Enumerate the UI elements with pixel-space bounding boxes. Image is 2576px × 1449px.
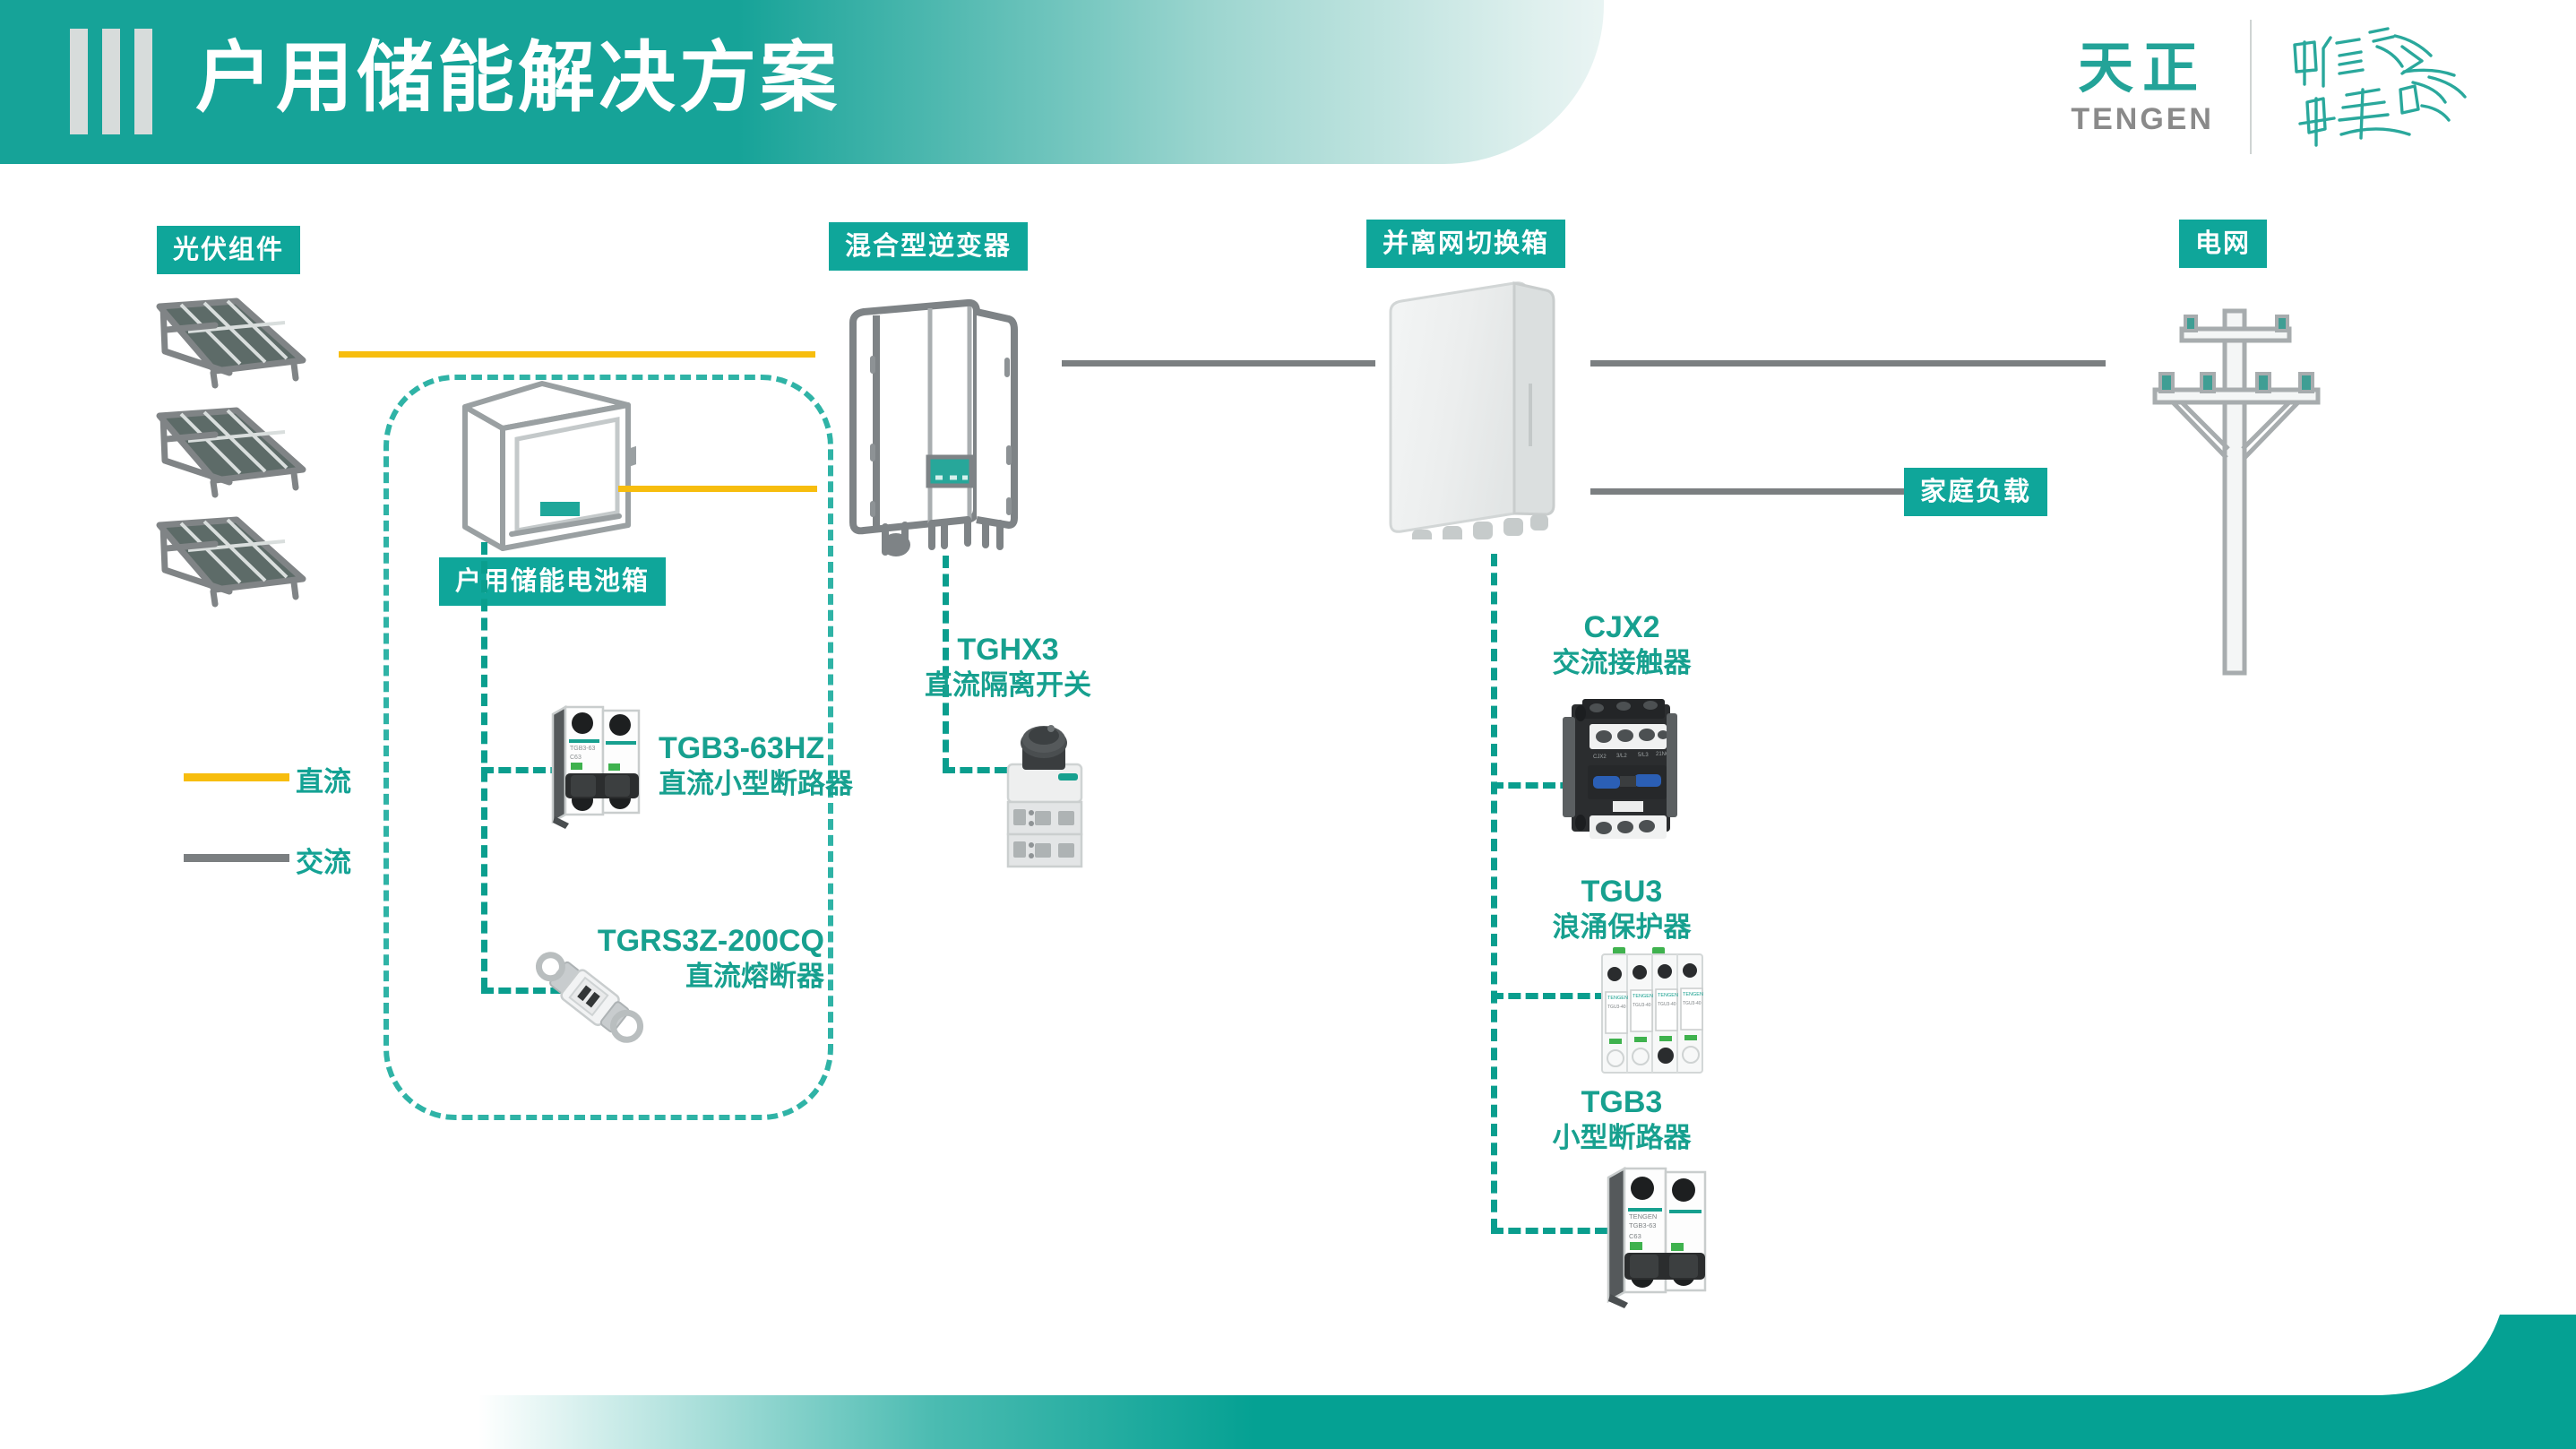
station-label-load: 家庭负载 bbox=[1904, 468, 2047, 516]
legend-swatch-dc bbox=[184, 773, 289, 781]
product-caption-cjx2: CJX2 交流接触器 bbox=[1478, 609, 1765, 680]
svg-text:TENGEN: TENGEN bbox=[1633, 994, 1653, 999]
logo-divider bbox=[2250, 20, 2252, 154]
utility-pole-icon bbox=[2146, 291, 2325, 677]
solar-panel-icon bbox=[151, 405, 312, 504]
wire-ac-switchbox-to-load bbox=[1590, 488, 1904, 495]
svg-text:TGU3-40: TGU3-40 bbox=[1607, 1005, 1626, 1010]
three-bars-icon bbox=[70, 29, 152, 134]
svg-text:CJX2: CJX2 bbox=[1593, 755, 1607, 760]
logo-name-cn: 天正 bbox=[2078, 37, 2207, 101]
solar-panel-icon bbox=[151, 514, 312, 613]
dc-isolator-switch-icon bbox=[981, 712, 1111, 869]
product-caption-tghx3: TGHX3 直流隔离开关 bbox=[878, 632, 1138, 703]
slide-canvas: 户用储能解决方案 天正 TENGEN bbox=[0, 0, 2576, 1449]
svg-text:TGU3-40: TGU3-40 bbox=[1683, 1001, 1702, 1006]
product-caption-tgrs3z-200cq: TGRS3Z-200CQ 直流熔断器 bbox=[332, 923, 824, 994]
wire-ac-switchbox-to-grid bbox=[1590, 360, 2106, 367]
svg-text:TGU3-40: TGU3-40 bbox=[1633, 1003, 1651, 1008]
surge-protector-icon: TENGENTENGEN TENGENTENGEN TGU3-40TGU3-40… bbox=[1593, 945, 1714, 1080]
dash-branch-tgu3 bbox=[1491, 993, 1607, 999]
slogan-handwriting-icon bbox=[2287, 20, 2476, 154]
legend-swatch-ac bbox=[184, 854, 289, 862]
grid-switch-box-icon bbox=[1380, 280, 1559, 539]
station-label-inverter: 混合型逆变器 bbox=[829, 222, 1028, 271]
solar-panel-icon bbox=[151, 296, 312, 394]
svg-text:TGB3-63: TGB3-63 bbox=[570, 746, 596, 752]
product-caption-tgb3: TGB3 小型断路器 bbox=[1478, 1084, 1765, 1155]
ac-contactor-icon: CJX23/L25/L321NC bbox=[1557, 690, 1692, 842]
svg-text:C63: C63 bbox=[1629, 1232, 1641, 1240]
svg-text:TENGEN: TENGEN bbox=[1629, 1212, 1657, 1220]
brand-logo: 天正 TENGEN bbox=[2071, 20, 2476, 154]
legend-label-dc: 直流 bbox=[296, 759, 351, 799]
product-caption-tgb3-63hz: TGB3-63HZ 直流小型断路器 bbox=[659, 730, 853, 801]
product-caption-tgu3: TGU3 浪涌保护器 bbox=[1474, 874, 1770, 944]
svg-text:TENGEN: TENGEN bbox=[1607, 996, 1628, 1001]
page-title: 户用储能解决方案 bbox=[195, 25, 840, 131]
svg-text:TENGEN: TENGEN bbox=[1658, 993, 1678, 998]
svg-text:5/L3: 5/L3 bbox=[1638, 753, 1649, 758]
station-label-switchbox: 并离网切换箱 bbox=[1366, 220, 1565, 268]
dc-miniature-circuit-breaker-icon: TGB3-63 C63 bbox=[533, 694, 650, 829]
wire-dc-pv-to-inverter bbox=[339, 351, 815, 358]
legend-label-ac: 交流 bbox=[296, 840, 351, 880]
svg-text:TGB3-63: TGB3-63 bbox=[1629, 1221, 1656, 1229]
svg-text:TENGEN: TENGEN bbox=[1683, 992, 1703, 997]
footer-band bbox=[0, 1315, 2576, 1449]
svg-text:TGU3-40: TGU3-40 bbox=[1658, 1002, 1676, 1007]
wire-ac-inverter-to-switchbox bbox=[1062, 360, 1375, 367]
logo-name-en: TENGEN bbox=[2071, 101, 2214, 137]
svg-text:C63: C63 bbox=[570, 755, 582, 761]
logo-lockup: 天正 TENGEN bbox=[2071, 37, 2214, 137]
station-label-pv: 光伏组件 bbox=[157, 226, 300, 274]
miniature-circuit-breaker-icon: TENGEN TGB3-63 C63 bbox=[1590, 1156, 1716, 1308]
svg-text:3/L2: 3/L2 bbox=[1616, 754, 1627, 759]
hybrid-inverter-icon bbox=[833, 296, 1021, 560]
station-label-grid: 电网 bbox=[2179, 220, 2267, 268]
